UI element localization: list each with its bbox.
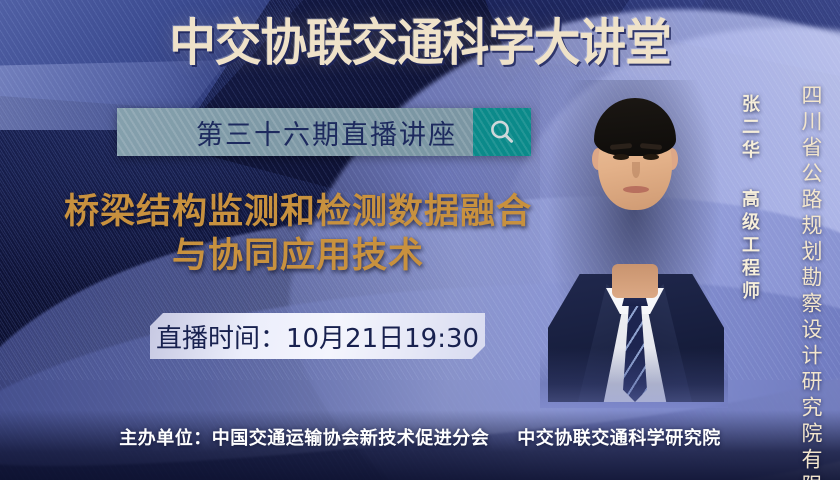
search-icon <box>487 117 517 147</box>
session-label-field[interactable]: 第三十六期直播讲座 <box>117 108 473 156</box>
speaker-name-title: 张二华 高级工程师 <box>736 94 762 294</box>
speaker-portrait <box>540 72 728 402</box>
session-label: 第三十六期直播讲座 <box>196 113 457 152</box>
footer-institute: 中交协联交通科学研究院 <box>517 428 721 449</box>
portrait-neck <box>612 264 658 298</box>
portrait-eye-left <box>613 154 629 160</box>
portrait-mouth <box>623 186 649 193</box>
portrait-eye-right <box>643 154 659 160</box>
portrait-bottom-fade <box>540 348 728 408</box>
broadcast-time-badge: 直播时间：10月21日19:30 <box>150 313 485 359</box>
webinar-poster: 中交协联交通科学大讲堂 第三十六期直播讲座 桥梁结构监测和检测数据融合 与协同应… <box>0 0 840 480</box>
speaker-organization: 四川省公路规划勘察设计研究院有限公司 <box>796 84 826 434</box>
footer-organizers: 主办单位：中国交通运输协会新技术促进分会中交协联交通科学研究院 <box>0 424 840 450</box>
broadcast-time-text: 直播时间：10月21日19:30 <box>156 318 479 355</box>
lecture-title: 桥梁结构监测和检测数据融合 与协同应用技术 <box>28 190 568 278</box>
footer-organizer-label: 主办单位：中国交通运输协会新技术促进分会 <box>119 428 489 449</box>
session-search-bar[interactable]: 第三十六期直播讲座 <box>117 108 531 156</box>
lecture-title-line-2: 与协同应用技术 <box>28 234 568 278</box>
lecture-title-line-1: 桥梁结构监测和检测数据融合 <box>64 192 532 232</box>
page-title: 中交协联交通科学大讲堂 <box>29 14 810 72</box>
portrait-nose <box>632 162 640 178</box>
search-button[interactable] <box>473 108 531 156</box>
